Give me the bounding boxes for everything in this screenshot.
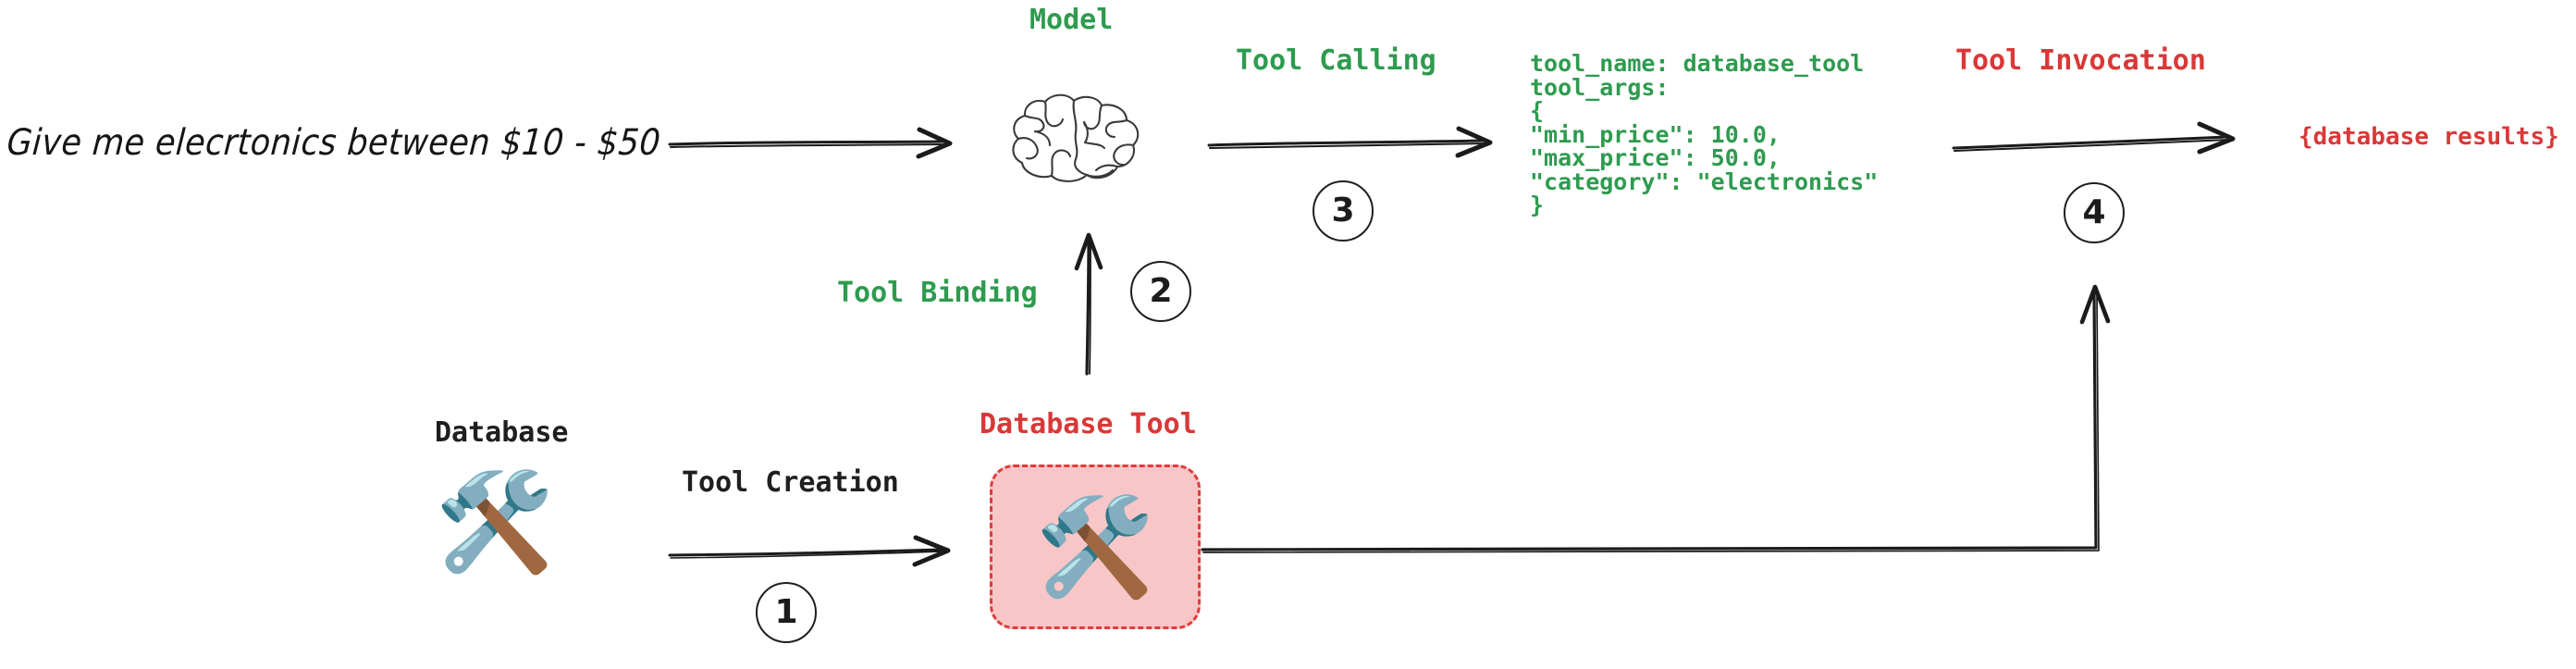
tool-binding-label: Tool Binding — [837, 277, 1038, 309]
hammer-and-wrench-icon-tool: 🛠️ — [1035, 499, 1155, 595]
database-tool-box[interactable]: 🛠️ — [990, 465, 1201, 629]
tool-creation-label: Tool Creation — [682, 466, 899, 499]
brain-sketch-icon — [996, 91, 1155, 192]
hammer-and-wrench-icon-database: 🛠️ — [435, 474, 555, 570]
step-number-1: 1 — [774, 596, 797, 629]
arrow-model-to-tool-call — [1207, 122, 1522, 163]
tool-call-payload: tool_name: database_tool tool_args: { "m… — [1530, 52, 1878, 217]
database-tool-label: Database Tool — [980, 408, 1197, 440]
arrow-database-to-tool — [668, 535, 964, 576]
arrow-tool-to-invocation-path — [1201, 242, 2144, 557]
step-circle-4: 4 — [2064, 182, 2125, 243]
user-prompt-text: Give me elecrtonics between $10 - $50 — [6, 122, 662, 164]
tool-calling-label: Tool Calling — [1236, 44, 1436, 77]
step-number-2: 2 — [1149, 275, 1172, 308]
tool-invocation-label: Tool Invocation — [1955, 44, 2206, 77]
step-number-4: 4 — [2082, 196, 2105, 229]
step-circle-1: 1 — [756, 582, 817, 643]
step-number-3: 3 — [1331, 194, 1354, 228]
step-circle-3: 3 — [1313, 180, 1374, 242]
arrow-prompt-to-model — [668, 122, 982, 163]
arrow-tool-to-results — [1952, 122, 2266, 163]
model-label: Model — [1029, 4, 1113, 36]
arrow-tool-binding-up — [1068, 229, 1115, 378]
step-circle-2: 2 — [1130, 261, 1191, 322]
database-label: Database — [435, 416, 569, 449]
database-results-text: {database results} — [2299, 123, 2559, 151]
diagram-canvas: Give me elecrtonics between $10 - $50 Mo… — [0, 0, 2576, 669]
